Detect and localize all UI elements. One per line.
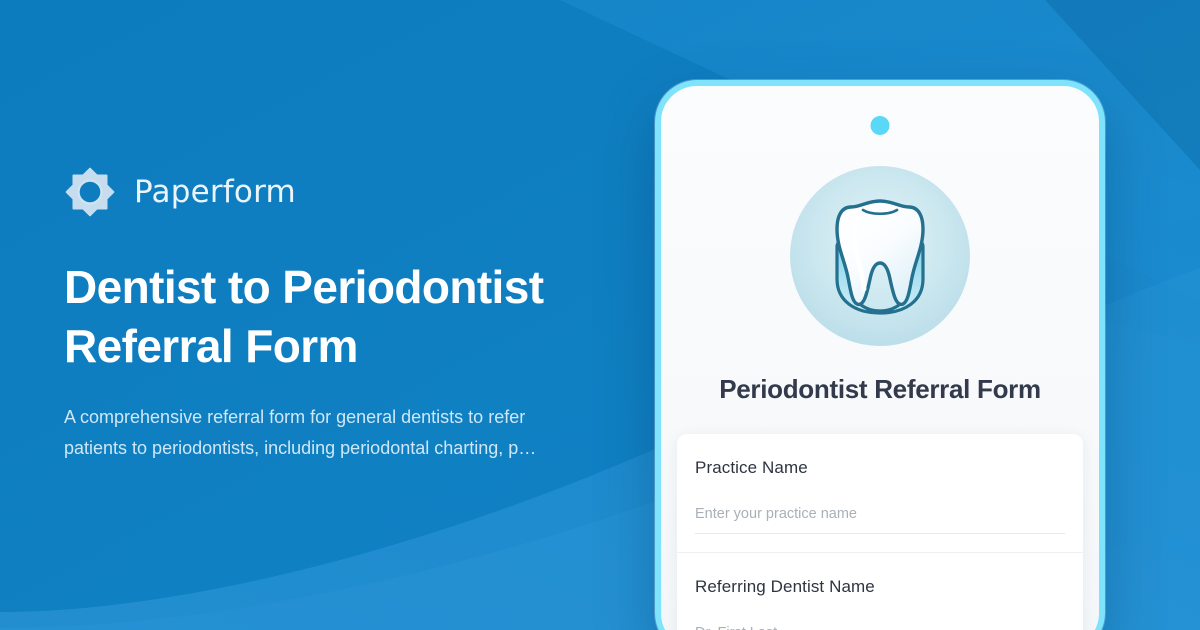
form-title: Periodontist Referral Form [661,374,1099,405]
field-label-referring-dentist-name: Referring Dentist Name [695,577,1065,597]
form-card: Practice Name Enter your practice name R… [677,434,1083,630]
paperform-logo-glyph [64,166,116,218]
page-title: Dentist to Periodontist Referral Form [64,258,624,376]
brand-name: Paperform [134,177,296,208]
tooth-with-gums-glyph [785,161,975,351]
brand-lockup: Paperform [64,166,664,218]
form-field-referring-dentist-name[interactable]: Referring Dentist Name Dr. First Last [677,552,1083,630]
referring-dentist-name-input[interactable]: Dr. First Last [695,625,1065,630]
form-field-practice-name[interactable]: Practice Name Enter your practice name [677,434,1083,552]
camera-dot-icon [871,116,890,135]
page-description: A comprehensive referral form for genera… [64,402,579,464]
hero-left-panel: Paperform Dentist to Periodontist Referr… [64,0,664,630]
phone-mockup: Periodontist Referral Form Practice Name… [655,80,1105,630]
tooth-with-gums-icon [785,161,975,351]
field-label-practice-name: Practice Name [695,458,1065,478]
paperform-logo-icon [64,166,116,218]
practice-name-input[interactable]: Enter your practice name [695,506,1065,534]
